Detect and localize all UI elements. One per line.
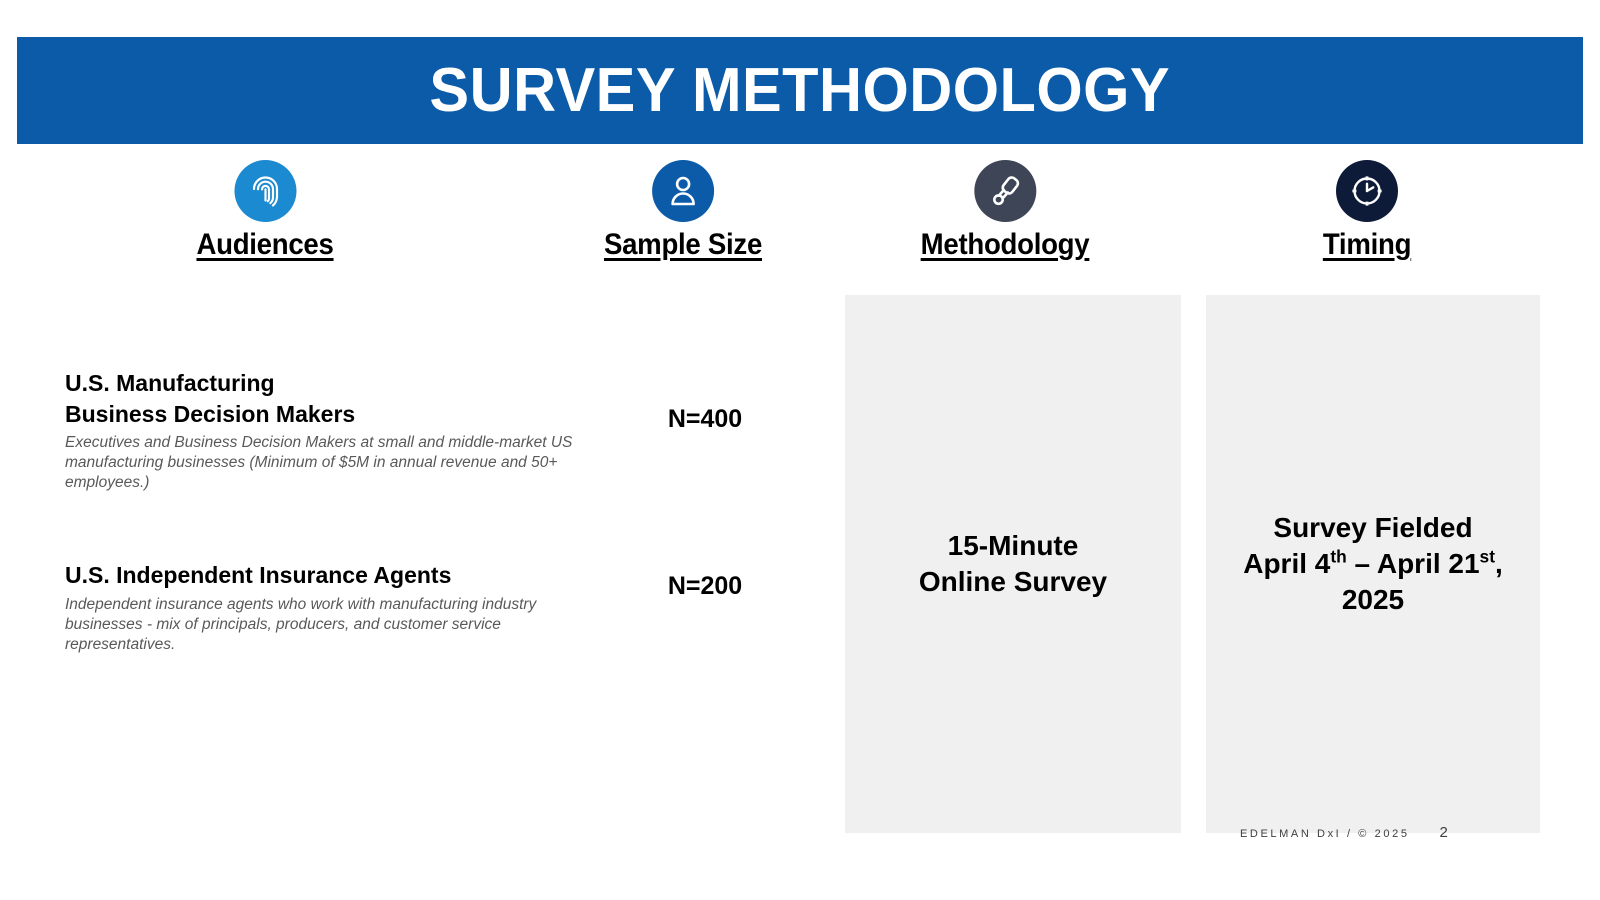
audience-title-line-2: Business Decision Makers bbox=[65, 401, 355, 427]
audience-title: U.S. Manufacturing Business Decision Mak… bbox=[65, 368, 625, 429]
sample-size-value: N=200 bbox=[668, 572, 742, 601]
timing-date-start: April 4 bbox=[1243, 548, 1330, 579]
column-header-label: Sample Size bbox=[604, 228, 762, 262]
footer: EDELMAN DxI / © 2025 2 bbox=[1240, 824, 1560, 841]
magnifier-icon bbox=[974, 160, 1036, 222]
methodology-line-1: 15-Minute bbox=[948, 530, 1079, 561]
column-header-audiences: Audiences bbox=[190, 160, 339, 262]
timing-line-1: Survey Fielded bbox=[1273, 512, 1472, 543]
footer-brand: EDELMAN DxI / © 2025 bbox=[1240, 828, 1410, 840]
audience-description: Executives and Business Decision Makers … bbox=[65, 433, 610, 493]
audience-description: Independent insurance agents who work wi… bbox=[65, 595, 610, 655]
methodology-panel: 15-Minute Online Survey bbox=[845, 295, 1181, 833]
column-header-sample-size: Sample Size bbox=[597, 160, 769, 262]
methodology-line-2: Online Survey bbox=[919, 566, 1107, 597]
column-header-label: Timing bbox=[1323, 228, 1411, 262]
timing-panel-text: Survey Fielded April 4th – April 21st, 2… bbox=[1233, 510, 1513, 617]
timing-year: 2025 bbox=[1342, 584, 1404, 615]
timing-date-start-ordinal: th bbox=[1330, 547, 1346, 567]
column-header-timing: Timing bbox=[1319, 160, 1415, 262]
timing-date-end-ordinal: st bbox=[1480, 547, 1495, 567]
page-number: 2 bbox=[1440, 824, 1448, 841]
person-icon bbox=[652, 160, 714, 222]
clock-icon bbox=[1336, 160, 1398, 222]
audience-row: U.S. Manufacturing Business Decision Mak… bbox=[65, 368, 625, 493]
page-title: SURVEY METHODOLOGY bbox=[430, 60, 1171, 122]
timing-panel: Survey Fielded April 4th – April 21st, 2… bbox=[1206, 295, 1540, 833]
column-header-label: Methodology bbox=[921, 228, 1090, 262]
column-header-label: Audiences bbox=[196, 228, 333, 262]
timing-date-separator: – April 21 bbox=[1347, 548, 1480, 579]
methodology-panel-text: 15-Minute Online Survey bbox=[909, 528, 1117, 600]
audience-row: U.S. Independent Insurance Agents Indepe… bbox=[65, 560, 625, 655]
sample-size-value: N=400 bbox=[668, 405, 742, 434]
audience-title-line-1: U.S. Independent Insurance Agents bbox=[65, 562, 451, 588]
title-banner: SURVEY METHODOLOGY bbox=[17, 37, 1583, 144]
fingerprint-icon bbox=[234, 160, 296, 222]
audience-title-line-1: U.S. Manufacturing bbox=[65, 370, 275, 396]
column-header-methodology: Methodology bbox=[913, 160, 1096, 262]
audience-title: U.S. Independent Insurance Agents bbox=[65, 560, 625, 591]
timing-date-comma: , bbox=[1495, 548, 1503, 579]
